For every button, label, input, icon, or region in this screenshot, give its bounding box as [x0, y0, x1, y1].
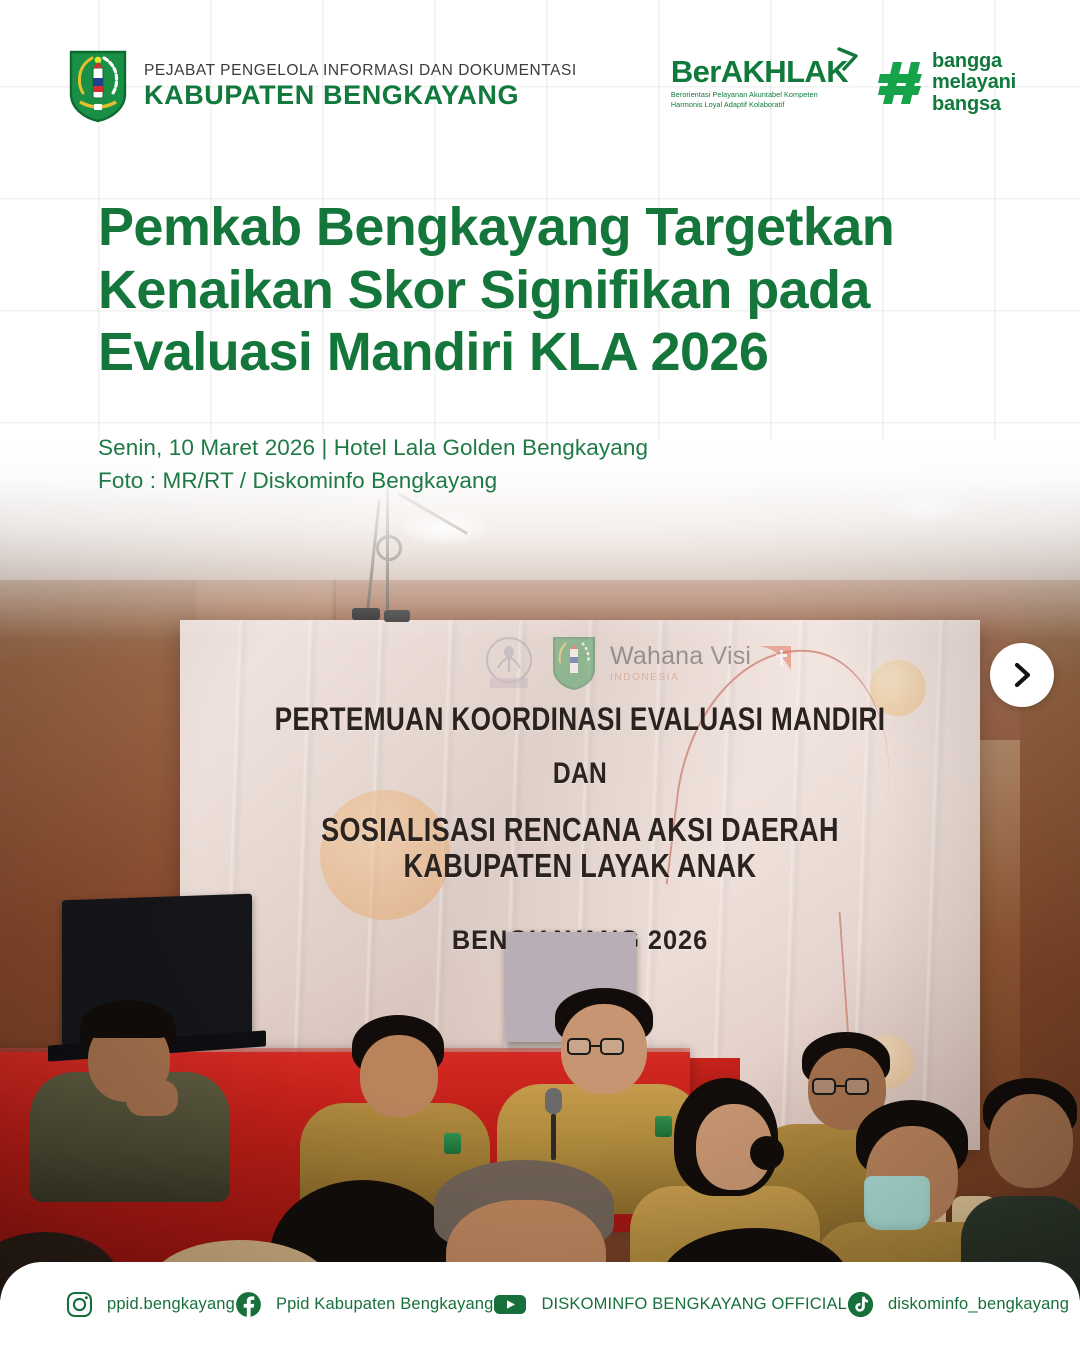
microphone-icon	[545, 1088, 562, 1160]
wahana-visi-subtitle: INDONESIA	[610, 672, 751, 683]
brand-lockup-left: PEJABAT PENGELOLA INFORMASI DAN DOKUMENT…	[68, 48, 577, 123]
hair-bun	[750, 1136, 784, 1170]
banner-line-3: SOSIALISASI RENCANA AKSI DAERAH KABUPATE…	[252, 812, 908, 885]
bangga-wordmark: bangga melayani bangsa	[932, 51, 1016, 116]
headline-line-3: Evaluasi Mandiri KLA 2026	[98, 321, 978, 384]
post-header: PEJABAT PENGELOLA INFORMASI DAN DOKUMENT…	[0, 0, 1080, 170]
bangga-line-3: bangsa	[932, 94, 1016, 116]
event-date-venue: Senin, 10 Maret 2026 | Hotel Lala Golden…	[98, 432, 648, 465]
banner-line-2: DAN	[252, 751, 908, 796]
photo-scene: Wahana Visi INDONESIA PERTEMUAN KOORDINA…	[0, 440, 1080, 1300]
wahana-visi-logo: Wahana Visi INDONESIA	[610, 644, 793, 683]
banner-text-block: PERTEMUAN KOORDINASI EVALUASI MANDIRI DA…	[180, 702, 980, 956]
ceiling-light	[400, 510, 490, 546]
berakhlak-tagline-line-2: Harmonis Loyal Adaptif Kolaboratif	[671, 100, 821, 110]
eyeglasses	[812, 1078, 884, 1098]
social-label-youtube: DISKOMINFO BENGKAYANG OFFICIAL	[541, 1295, 847, 1314]
banner-line-1: PERTEMUAN KOORDINASI EVALUASI MANDIRI	[252, 702, 908, 737]
berakhlak-wordmark: BerAKHLAK	[671, 56, 848, 87]
berakhlak-logo: BerAKHLAK Berorientasi Pelayanan Akuntab…	[671, 56, 848, 111]
headline-block: Pemkab Bengkayang Targetkan Kenaikan Sko…	[98, 196, 978, 384]
cable-connector	[352, 608, 380, 620]
youtube-icon	[493, 1291, 527, 1318]
bengkayang-regency-crest-icon	[68, 48, 128, 123]
org-line-1: PEJABAT PENGELOLA INFORMASI DAN DOKUMENT…	[144, 63, 577, 79]
bangga-line-2: melayani	[932, 72, 1016, 94]
carousel-next-button[interactable]	[990, 643, 1054, 707]
social-item-youtube[interactable]: DISKOMINFO BENGKAYANG OFFICIAL	[493, 1291, 847, 1318]
event-photo: Wahana Visi INDONESIA PERTEMUAN KOORDINA…	[0, 440, 1080, 1300]
wahana-visi-name: Wahana Visi	[610, 644, 751, 669]
headline-line-2: Kenaikan Skor Signifikan pada	[98, 259, 978, 322]
bangga-melayani-bangsa-logo: bangga melayani bangsa	[878, 51, 1016, 116]
headline-line-1: Pemkab Bengkayang Targetkan	[98, 196, 978, 259]
hand	[126, 1080, 178, 1116]
eyeglasses	[567, 1038, 643, 1058]
org-line-2: KABUPATEN BENGKAYANG	[144, 82, 577, 109]
berakhlak-swoosh-icon	[837, 47, 859, 71]
hashtag-icon	[878, 60, 924, 106]
page-title: Pemkab Bengkayang Targetkan Kenaikan Sko…	[98, 196, 978, 384]
banner-logo-row: Wahana Visi INDONESIA	[480, 628, 810, 698]
facebook-icon	[235, 1291, 262, 1318]
meta-block: Senin, 10 Maret 2026 | Hotel Lala Golden…	[98, 432, 648, 497]
chevron-right-icon	[1009, 662, 1035, 688]
cable-loop	[376, 535, 402, 561]
social-label-tiktok: diskominfo_bengkayang	[888, 1295, 1069, 1314]
social-item-tiktok[interactable]: diskominfo_bengkayang	[847, 1291, 1069, 1318]
wahana-visi-mark-icon	[755, 644, 793, 678]
bengkayang-crest-icon	[552, 635, 596, 691]
ceiling-light	[885, 492, 965, 522]
brand-text: PEJABAT PENGELOLA INFORMASI DAN DOKUMENT…	[144, 61, 577, 110]
social-label-facebook: Ppid Kabupaten Bengkayang	[276, 1295, 494, 1314]
unicef-logo-icon	[480, 634, 538, 692]
social-label-instagram: ppid.bengkayang	[107, 1295, 235, 1314]
social-footer-bar: ppid.bengkayang Ppid Kabupaten Bengkayan…	[0, 1262, 1080, 1350]
photo-credit: Foto : MR/RT / Diskominfo Bengkayang	[98, 465, 648, 498]
instagram-icon	[66, 1291, 93, 1318]
social-item-instagram[interactable]: ppid.bengkayang	[66, 1291, 235, 1318]
brand-lockup-right: BerAKHLAK Berorientasi Pelayanan Akuntab…	[671, 51, 1016, 120]
cable-connector	[384, 610, 410, 622]
face-mask	[864, 1176, 930, 1230]
tiktok-icon	[847, 1291, 874, 1318]
bangga-line-1: bangga	[932, 51, 1016, 73]
social-media-post: PEJABAT PENGELOLA INFORMASI DAN DOKUMENT…	[0, 0, 1080, 1350]
social-item-facebook[interactable]: Ppid Kabupaten Bengkayang	[235, 1291, 494, 1318]
berakhlak-tagline-line-1: Berorientasi Pelayanan Akuntabel Kompete…	[671, 90, 821, 100]
